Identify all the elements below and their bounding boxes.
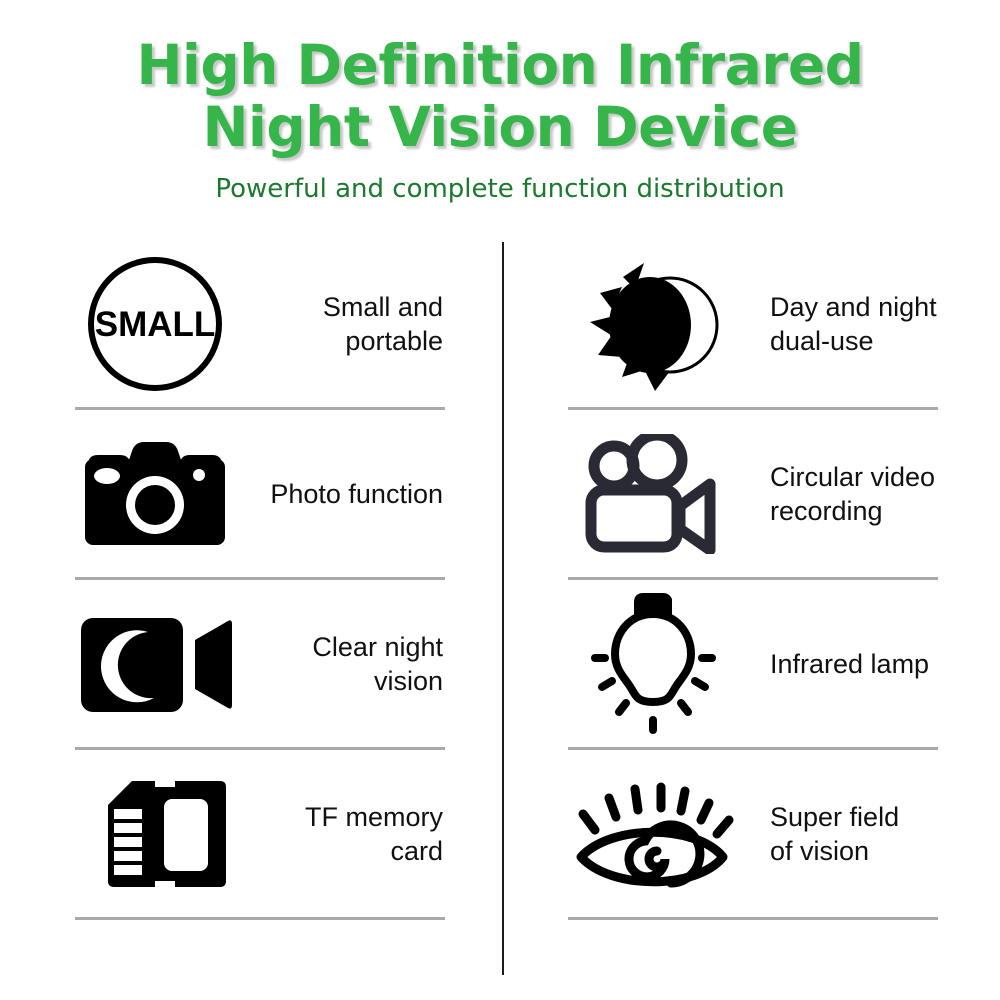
feature-label: Circular videorecording	[738, 460, 938, 528]
video-camera-icon	[568, 419, 738, 569]
feature-row: Circular videorecording	[568, 410, 938, 580]
feature-row: Infrared lamp	[568, 580, 938, 750]
page-title-line-2: Night Vision Device	[0, 96, 1000, 158]
feature-label: TF memorycard	[235, 800, 445, 868]
infographic-page: High Definition Infrared Night Vision De…	[0, 0, 1000, 1000]
feature-label: Day and nightdual-use	[738, 290, 938, 358]
feature-label: Infrared lamp	[738, 647, 938, 681]
feature-label: Clear nightvision	[235, 630, 445, 698]
eye-icon	[568, 759, 738, 909]
column-divider	[502, 242, 504, 975]
small-circle-icon-text: SMALL	[95, 305, 216, 344]
feature-column-right: Day and nightdual-use Circula	[568, 240, 938, 920]
tf-memory-card-icon	[75, 759, 235, 909]
feature-label: Small andportable	[235, 290, 445, 358]
night-vision-camera-icon	[75, 589, 235, 739]
row-divider	[75, 917, 445, 920]
feature-label: Super fieldof vision	[738, 800, 938, 868]
row-divider	[568, 917, 938, 920]
light-bulb-icon	[568, 589, 738, 739]
header: High Definition Infrared Night Vision De…	[0, 34, 1000, 204]
feature-row: Photo function	[75, 410, 445, 580]
feature-label: Photo function	[235, 477, 445, 511]
feature-column-left: SMALL Small andportable	[75, 240, 445, 920]
page-title-line-1: High Definition Infrared	[0, 34, 1000, 96]
feature-row: Super fieldof vision	[568, 750, 938, 920]
sun-moon-icon	[568, 249, 738, 399]
page-subtitle: Powerful and complete function distribut…	[0, 174, 1000, 204]
feature-row: SMALL Small andportable	[75, 240, 445, 410]
feature-row: Day and nightdual-use	[568, 240, 938, 410]
feature-row: TF memorycard	[75, 750, 445, 920]
photo-camera-icon	[75, 419, 235, 569]
feature-row: Clear nightvision	[75, 580, 445, 750]
small-circle-icon: SMALL	[75, 249, 235, 399]
